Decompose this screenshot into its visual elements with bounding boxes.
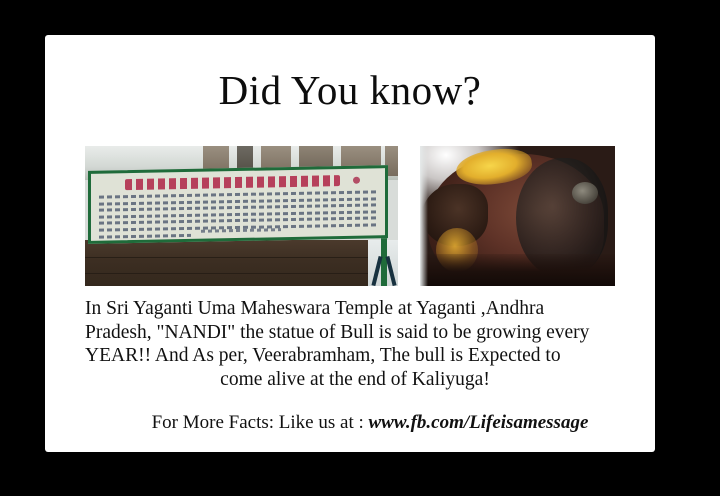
telugu-heading-text xyxy=(125,175,340,190)
stone-wall-base xyxy=(85,240,368,286)
temple-pillar xyxy=(237,146,253,170)
body-line: Pradesh, "NANDI" the statue of Bull is s… xyxy=(85,321,625,345)
body-line: come alive at the end of Kaliyuga! xyxy=(85,368,625,392)
poster-root: Did You know? xyxy=(0,0,720,496)
page-title: Did You know? xyxy=(45,67,655,113)
footer-line: For More Facts: Like us at : www.fb.com/… xyxy=(85,412,655,434)
shrine-floor xyxy=(420,254,615,286)
body-line: YEAR!! And As per, Veerabramham, The bul… xyxy=(85,344,625,368)
body-text: In Sri Yaganti Uma Maheswara Temple at Y… xyxy=(85,297,625,391)
telugu-body-text xyxy=(99,190,377,241)
body-line: In Sri Yaganti Uma Maheswara Temple at Y… xyxy=(85,297,625,321)
facebook-page-url[interactable]: www.fb.com/Lifeisamessage xyxy=(369,412,589,433)
nandi-statue-photo xyxy=(420,146,615,286)
white-card: Did You know? xyxy=(45,35,655,452)
text-line xyxy=(99,233,191,238)
footer-prefix: For More Facts: Like us at : xyxy=(152,412,369,433)
signboard-panel xyxy=(88,165,388,244)
photo-strip xyxy=(85,146,615,286)
bull-ear xyxy=(572,182,598,204)
heading-ornament-icon xyxy=(353,177,360,184)
temple-signboard-photo xyxy=(85,146,398,286)
photo-edge-highlight xyxy=(420,146,428,286)
